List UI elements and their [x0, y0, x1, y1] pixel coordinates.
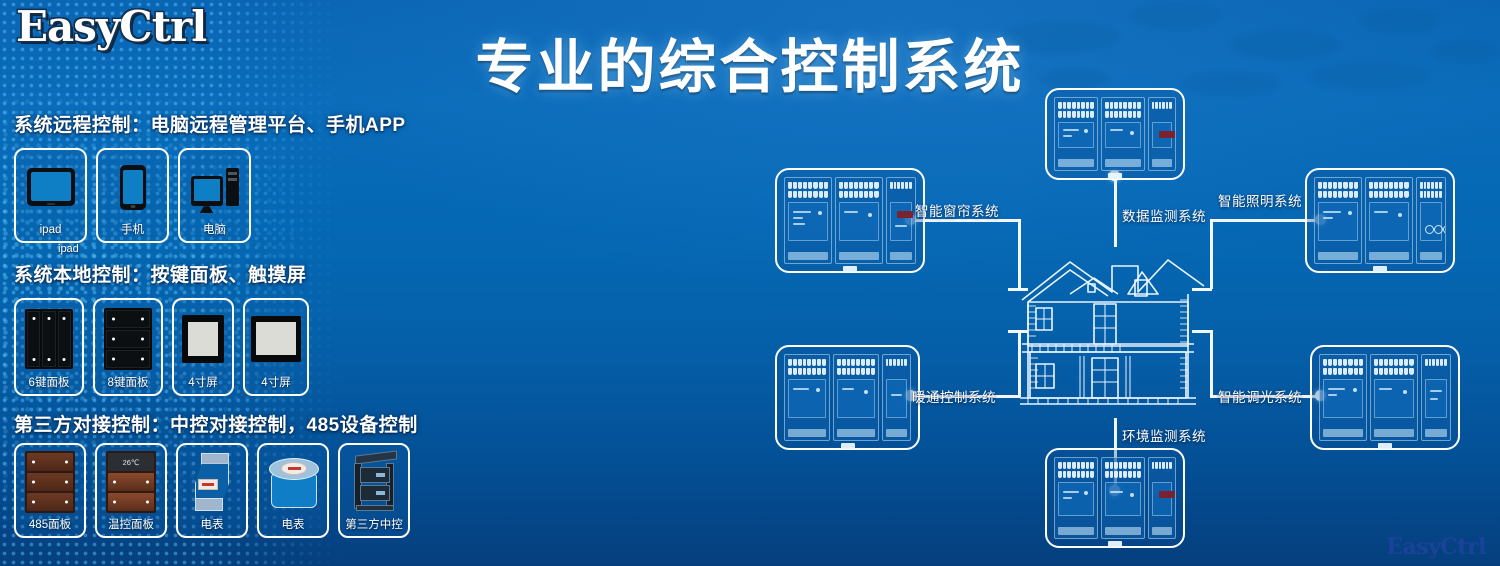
device-label: 6键面板 [29, 378, 70, 395]
section-heading-local: 系统本地控制：按键面板、触摸屏 [14, 260, 307, 287]
brand-logo: EasyCtrl [16, 2, 206, 51]
device-card-computer[interactable]: 电脑 [178, 148, 251, 243]
device-card-thermostat-panel[interactable]: 26℃ 温控面板 [95, 443, 167, 538]
diagram-label-lighting: 智能照明系统 [1218, 190, 1302, 210]
device-label: 电脑 [203, 225, 226, 242]
lighting-control-module[interactable] [1305, 168, 1455, 273]
diagram-label-environment: 环境监测系统 [1122, 425, 1206, 445]
stray-ipad-label: ipad [58, 243, 79, 255]
device-card-third-party-controller[interactable]: 第三方中控 [338, 443, 410, 538]
device-label: 485面板 [29, 520, 71, 537]
device-card-phone[interactable]: 手机 [96, 148, 169, 243]
touch-screen-icon [174, 300, 232, 378]
device-card-485-panel[interactable]: 485面板 [14, 443, 86, 538]
device-card-6key-panel[interactable]: 6键面板 [14, 298, 84, 396]
device-label: 温控面板 [108, 520, 154, 537]
device-row-third-party: 485面板 26℃ 温控面板 电表 [14, 443, 410, 538]
device-label: 8键面板 [108, 378, 149, 395]
eight-key-panel-icon [95, 300, 161, 378]
diagram-label-dimming: 智能调光系统 [1218, 386, 1302, 406]
diagram-label-hvac: 暖通控制系统 [912, 386, 996, 406]
round-meter-icon [259, 445, 327, 520]
touch-screen-wide-icon [245, 300, 307, 378]
device-card-8key-panel[interactable]: 8键面板 [93, 298, 163, 396]
phone-icon [98, 150, 167, 225]
rs485-panel-icon [16, 445, 84, 520]
wire-lighting-v [1210, 219, 1213, 289]
device-label: 第三方中控 [345, 520, 403, 537]
device-label: 4寸屏 [188, 378, 217, 395]
thermostat-panel-icon: 26℃ [97, 445, 165, 520]
device-label: 手机 [121, 225, 144, 242]
section-heading-third-party: 第三方对接控制：中控对接控制，485设备控制 [14, 410, 418, 437]
tablet-icon [16, 150, 85, 225]
section-heading-remote: 系统远程控制：电脑远程管理平台、手机APP [14, 110, 406, 137]
device-card-ipad[interactable]: ipad [14, 148, 87, 243]
wire-lighting-h [1210, 219, 1320, 222]
device-label: 4寸屏 [261, 378, 290, 395]
diagram-label-curtain: 智能窗帘系统 [915, 200, 999, 220]
six-key-panel-icon [16, 300, 82, 378]
house-illustration [1008, 248, 1208, 418]
wire-data [1114, 175, 1117, 247]
device-card-round-meter[interactable]: 电表 [257, 443, 329, 538]
device-label: 电表 [201, 520, 224, 537]
device-row-local: 6键面板 8键面板 4寸屏 4寸屏 [14, 298, 309, 396]
third-party-controller-icon [340, 445, 408, 520]
hvac-control-module[interactable] [775, 345, 920, 450]
device-row-remote: ipad 手机 电脑 [14, 148, 251, 243]
watermark: EasyCtrl [1386, 534, 1486, 560]
system-topology-diagram: 智能窗帘系统 数据监测系统 智能照明系统 暖通控制系统 智能调光系统 环境监测系… [740, 0, 1500, 566]
wire-dimming-v [1210, 330, 1213, 397]
dimming-control-module[interactable] [1310, 345, 1460, 450]
device-card-flow-meter[interactable]: 电表 [176, 443, 248, 538]
device-card-touchscreen-2[interactable]: 4寸屏 [243, 298, 309, 396]
device-label: 电表 [282, 520, 305, 537]
data-monitoring-module[interactable] [1045, 88, 1185, 180]
environment-monitoring-module[interactable] [1045, 448, 1185, 548]
poster-stage: EasyCtrl 专业的综合控制系统 系统远程控制：电脑远程管理平台、手机APP… [0, 0, 1500, 566]
flow-meter-icon [178, 445, 246, 520]
thermostat-display-value: 26℃ [108, 453, 154, 471]
device-label: ipad [40, 225, 62, 242]
device-card-touchscreen-1[interactable]: 4寸屏 [172, 298, 234, 396]
diagram-label-data: 数据监测系统 [1122, 205, 1206, 225]
desktop-computer-icon [180, 150, 249, 225]
curtain-control-module[interactable] [775, 168, 925, 273]
